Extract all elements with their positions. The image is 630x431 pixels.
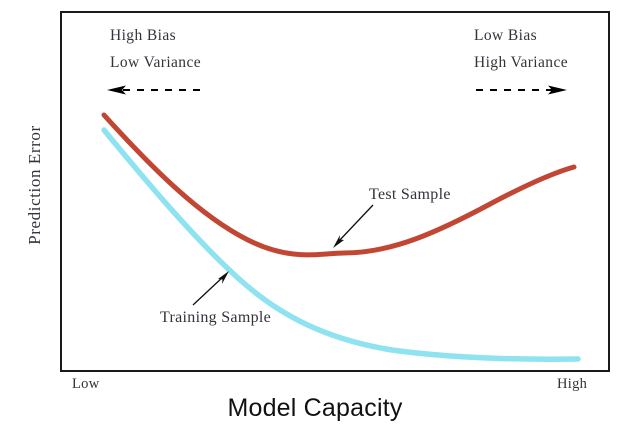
y-axis-label: Prediction Error: [25, 85, 45, 285]
training-sample-label: Training Sample: [160, 309, 271, 327]
annotation-right: Low Bias High Variance: [474, 22, 568, 76]
annotation-left: High Bias Low Variance: [110, 22, 201, 76]
x-tick-low: Low: [72, 376, 99, 393]
annotation-left-line2: Low Variance: [110, 49, 201, 76]
x-axis-title: Model Capacity: [0, 394, 630, 423]
bias-variance-figure: High Bias Low Variance Low Bias High Var…: [0, 0, 630, 431]
annotation-left-line1: High Bias: [110, 22, 201, 49]
annotation-right-line2: High Variance: [474, 49, 568, 76]
test-sample-label: Test Sample: [369, 186, 451, 204]
x-tick-high: High: [557, 376, 587, 393]
annotation-right-line1: Low Bias: [474, 22, 568, 49]
